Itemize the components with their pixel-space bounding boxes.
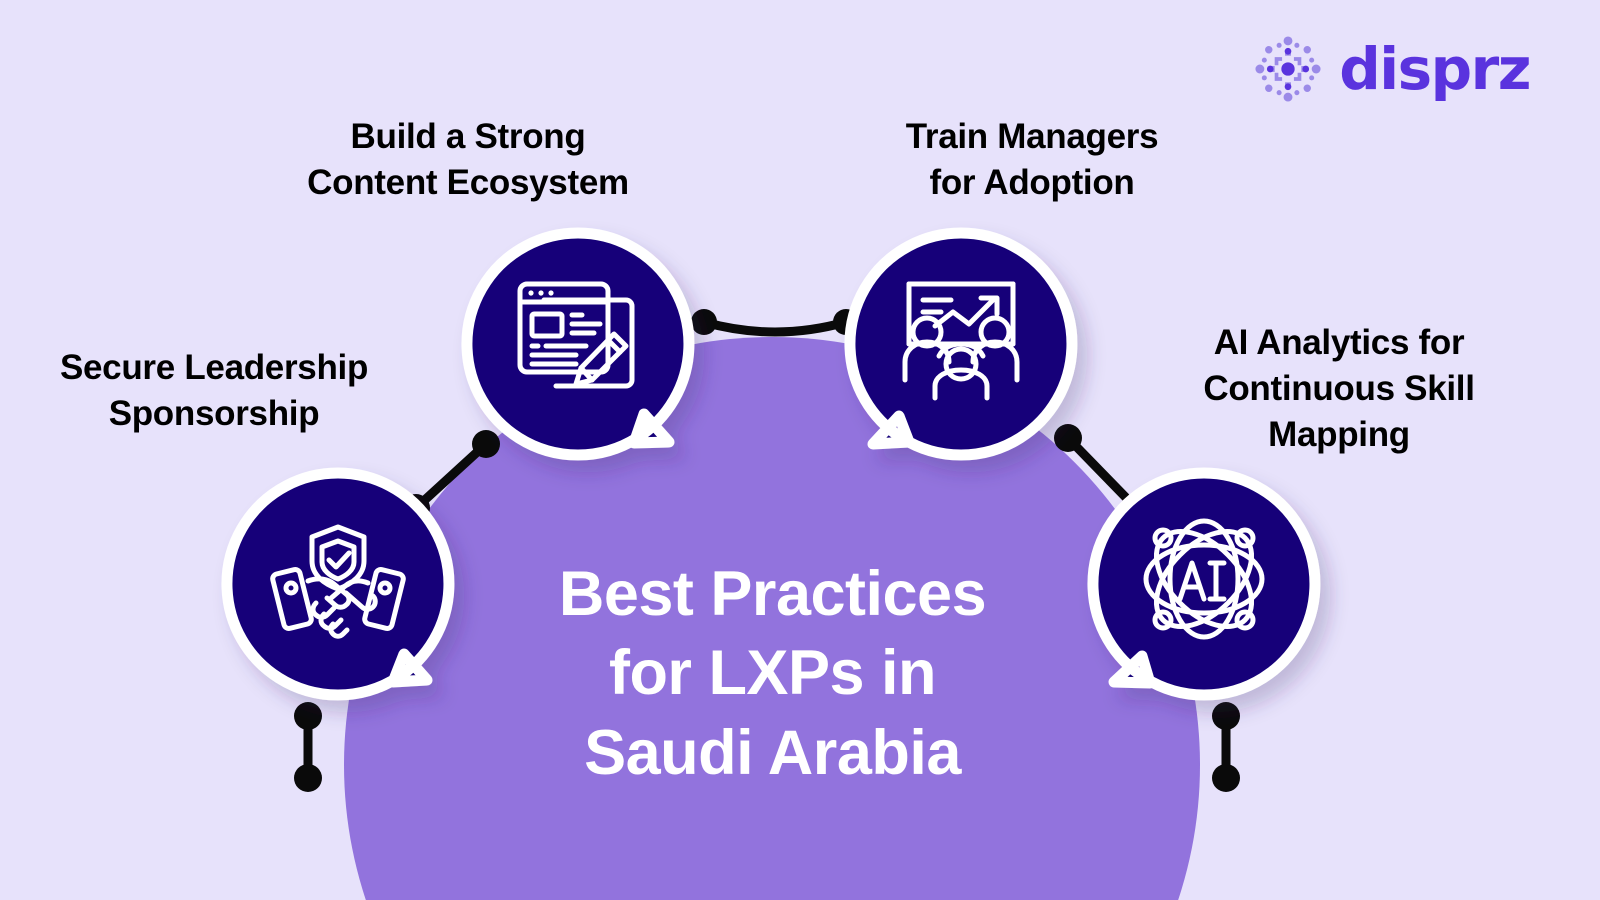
node-ai-analytics-continuous-skill-mapping[interactable] — [1088, 468, 1320, 720]
label-line-2: for Adoption — [862, 160, 1202, 206]
label-train-managers-for-adoption: Train Managers for Adoption — [862, 114, 1202, 206]
brand-wordmark: disprz — [1339, 40, 1530, 98]
node-build-a-strong-content-ecosystem[interactable] — [462, 228, 694, 480]
label-secure-leadership-sponsorship: Secure Leadership Sponsorship — [20, 345, 408, 437]
node-secure-leadership-sponsorship[interactable] — [222, 468, 454, 720]
page-title-line-3: Saudi Arabia — [500, 714, 1045, 793]
label-ai-analytics-continuous-skill-mapping: AI Analytics for Continuous Skill Mappin… — [1178, 320, 1500, 459]
label-line-2: Continuous Skill — [1178, 366, 1500, 412]
label-line-2: Sponsorship — [20, 391, 408, 437]
infographic-canvas: disprz Best Practices for LXPs in Saudi … — [0, 0, 1600, 900]
node-train-managers-for-adoption[interactable] — [845, 228, 1077, 480]
label-line-1: Build a Strong — [258, 114, 678, 160]
brand-logo: disprz — [1251, 32, 1530, 106]
label-line-3: Mapping — [1178, 412, 1500, 458]
label-line-1: Secure Leadership — [20, 345, 408, 391]
label-line-1: Train Managers — [862, 114, 1202, 160]
page-title-line-2: for LXPs in — [500, 634, 1045, 713]
disprz-snowflake-logo-icon — [1251, 32, 1325, 106]
label-line-2: Content Ecosystem — [258, 160, 678, 206]
label-line-1: AI Analytics for — [1178, 320, 1500, 366]
connector-content-to-managers — [690, 300, 860, 350]
page-title-line-1: Best Practices — [500, 555, 1045, 634]
page-title: Best Practices for LXPs in Saudi Arabia — [500, 555, 1045, 793]
label-build-a-strong-content-ecosystem: Build a Strong Content Ecosystem — [258, 114, 678, 206]
